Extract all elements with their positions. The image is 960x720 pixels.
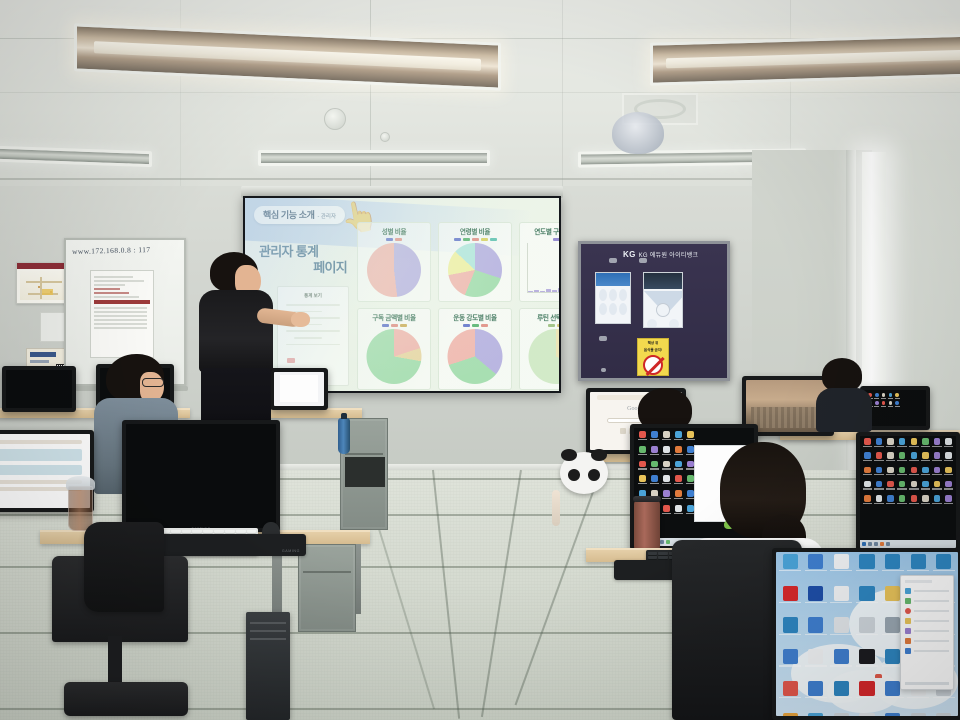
desktop-icon[interactable] (829, 586, 854, 617)
no-food-icon (643, 355, 663, 375)
pie-chart-price-tier (367, 329, 422, 384)
fire-evacuation-poster (643, 272, 683, 328)
desktop-icon[interactable] (906, 713, 931, 716)
ceiling-light-fixture (258, 150, 490, 166)
eyeglasses (142, 378, 164, 387)
slide-header-tag: 핵심 기능 소개 - 관리자 (254, 206, 345, 224)
desktop-icon[interactable] (855, 554, 880, 585)
chart-legend (358, 238, 430, 241)
desktop-icon[interactable] (855, 586, 880, 617)
chart-title: 연령별 비율 (439, 226, 511, 236)
student-right-back-shirt (816, 388, 872, 432)
desktop-icon[interactable] (778, 649, 803, 680)
presenter-hand (291, 312, 310, 327)
chart-title: 운동 강도별 비율 (439, 312, 511, 322)
desktop-icon[interactable] (829, 681, 854, 712)
logo-text: KG 에듀원 아이티뱅크 (639, 250, 699, 259)
ceiling-light-fixture (74, 23, 501, 90)
panda-face-cushion (560, 452, 608, 494)
desktop-icon[interactable] (778, 681, 803, 712)
chart-title: 구독 금액별 비율 (358, 312, 430, 322)
student-right-back-hair (822, 358, 862, 392)
cup-lid (66, 476, 95, 490)
panda-strap (552, 490, 560, 526)
desktop-icon[interactable] (778, 617, 803, 648)
ceiling-speaker-icon (612, 112, 664, 154)
covid-prevention-poster (595, 272, 631, 324)
desktop-icon[interactable] (829, 554, 854, 585)
chart-card-intensity: 운동 강도별 비율 (438, 308, 512, 390)
chart-legend (358, 324, 430, 327)
desktop-icon[interactable] (778, 713, 803, 716)
ceiling-light-fixture (0, 145, 152, 167)
pc-tower (246, 612, 290, 720)
pie-chart-intensity (448, 329, 503, 384)
presenter-shirt (199, 290, 273, 372)
chart-legend (439, 238, 511, 241)
monitor-main-left: SAMSUNG (122, 420, 280, 532)
under-desk-cabinet-left (298, 544, 356, 632)
mousepad-left: GAMING (158, 534, 306, 556)
slide-header-title: 핵심 기능 소개 (263, 208, 314, 221)
chart-title: 루틴 선택 비율 (520, 312, 559, 322)
ceiling-light-fixture (650, 33, 960, 85)
chart-legend (520, 238, 559, 241)
desktop-icon[interactable] (804, 713, 829, 716)
desktop-icon[interactable] (829, 649, 854, 680)
windows-desktop[interactable] (776, 552, 958, 716)
desktop-icon[interactable] (880, 713, 905, 716)
smoke-detector-icon (324, 108, 346, 130)
chart-title: 연도별 구독 추이 (520, 226, 559, 236)
student-right-back (816, 358, 876, 428)
chart-card-price-tier: 구독 금액별 비율 (357, 308, 431, 390)
taskbar[interactable] (860, 540, 956, 548)
chart-legend (439, 324, 511, 327)
presenter (195, 252, 305, 442)
slide-header-subtitle: - 관리자 (317, 212, 336, 220)
chart-legend (520, 324, 559, 327)
desktop-icon[interactable] (804, 681, 829, 712)
iced-coffee-cup (68, 486, 93, 531)
explorer-window[interactable] (900, 575, 955, 690)
desktop-icon[interactable] (855, 617, 880, 648)
smoke-detector-icon (380, 132, 390, 142)
chart-card-gender: 성별 비율 (357, 222, 431, 302)
logo-mark: KG (623, 250, 636, 259)
classroom-scene: www.172.168.0.8 : 117 핵심 기능 소개 - 관리자 (0, 0, 960, 720)
no-food-notice-poster: 책상 위 음식물 금지! (637, 338, 669, 376)
monitor-back-left-1 (2, 366, 76, 412)
pie-chart-routine (529, 329, 560, 384)
whiteboard-handwriting: www.172.168.0.8 : 117 (72, 245, 151, 256)
jacket-on-desk (84, 522, 164, 612)
desktop-icon[interactable] (931, 713, 956, 716)
chart-title: 성별 비율 (358, 226, 430, 236)
desktop-icon[interactable] (804, 617, 829, 648)
monitor-icons-right-2 (856, 432, 960, 552)
desktop-icon[interactable] (778, 586, 803, 617)
desktop-icon[interactable] (804, 554, 829, 585)
desktop-icon[interactable] (829, 617, 854, 648)
bulletin-board: KG KG 에듀원 아이티뱅크 책상 위 음식물 금지! (578, 241, 730, 381)
institute-logo: KG KG 에듀원 아이티뱅크 (623, 250, 698, 259)
desktop-icon[interactable] (804, 649, 829, 680)
pie-chart-gender (367, 243, 421, 297)
desktop-icon[interactable] (804, 586, 829, 617)
desktop-icon[interactable] (829, 713, 854, 716)
notice-line-2: 음식물 금지! (638, 348, 668, 353)
chart-card-routine: 루틴 선택 비율 (519, 308, 559, 390)
chart-card-subscription-trend: 연도별 구독 추이 (519, 222, 559, 302)
notice-line-1: 책상 위 (638, 341, 668, 346)
water-bottle (338, 418, 350, 454)
posted-handout (90, 270, 154, 358)
bar-chart-subscription-trend (528, 245, 559, 292)
travel-tumbler (634, 500, 660, 554)
chart-card-age: 연령별 비율 (438, 222, 512, 302)
desktop-icon[interactable] (855, 713, 880, 716)
monitor-foreground-desktop (772, 548, 960, 720)
chair-post (108, 636, 122, 688)
desktop-icon[interactable] (778, 554, 803, 585)
desktop-icon[interactable] (855, 649, 880, 680)
chair-seat-left (64, 682, 188, 716)
pie-chart-age (448, 243, 502, 297)
mousepad-logo: GAMING (282, 549, 300, 553)
desktop-icon[interactable] (855, 681, 880, 712)
